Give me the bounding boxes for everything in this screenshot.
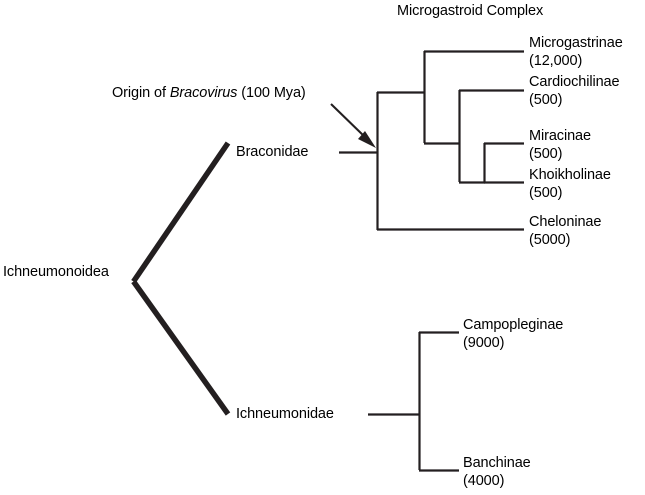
origin-arrow-shaft [331,104,366,138]
origin-annotation-suffix: (100 Mya) [237,85,305,101]
tip-count-cardiochilinae: (500) [529,92,562,109]
family-label-ichneumonidae: Ichneumonidae [236,406,334,423]
origin-annotation-prefix: Origin of [112,85,170,101]
tip-count-khoikholinae: (500) [529,185,562,202]
tip-count-microgastrinae: (12,000) [529,53,582,70]
figure-canvas: Microgastroid Complex Ichneumonoidea Ori… [0,0,645,495]
tip-label-miracinae: Miracinae [529,128,591,145]
tip-label-campopleginae: Campopleginae [463,317,563,334]
origin-annotation-taxon: Bracovirus [170,85,238,101]
tip-label-cheloninae: Cheloninae [529,214,601,231]
tip-count-campopleginae: (9000) [463,335,504,352]
branch-root-to-ichneumonidae [134,282,229,415]
tip-count-miracinae: (500) [529,146,562,163]
figure-title: Microgastroid Complex [397,3,543,20]
tip-label-banchinae: Banchinae [463,455,531,472]
origin-annotation: Origin of Bracovirus (100 Mya) [112,85,306,102]
tip-count-banchinae: (4000) [463,473,504,490]
branch-root-to-braconidae [134,143,229,282]
root-label-ichneumonoidea: Ichneumonoidea [3,264,109,281]
tip-label-cardiochilinae: Cardiochilinae [529,74,620,91]
tip-label-microgastrinae: Microgastrinae [529,35,623,52]
tip-count-cheloninae: (5000) [529,232,570,249]
tip-label-khoikholinae: Khoikholinae [529,167,611,184]
family-label-braconidae: Braconidae [236,144,308,161]
